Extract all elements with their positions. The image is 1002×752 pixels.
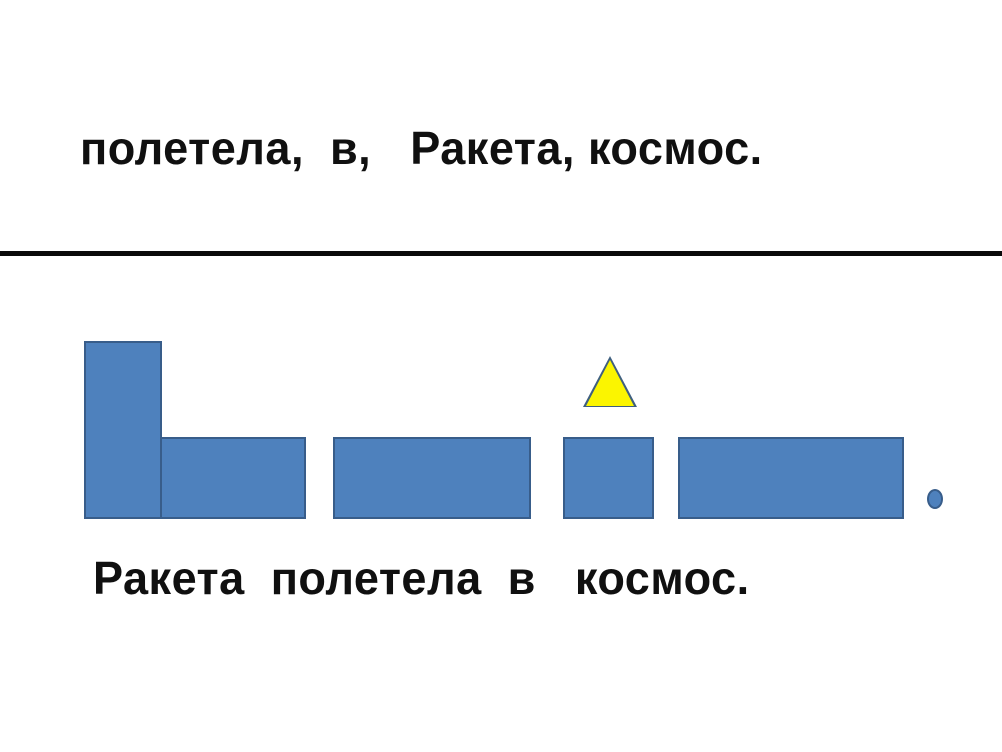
capital-marker-block: [84, 341, 162, 519]
sentence-scheme: [0, 330, 1002, 525]
scrambled-sentence: полетела, в, Ракета, космос.: [80, 125, 763, 171]
word-block-kosmos: [678, 437, 904, 519]
word-block-poletela: [333, 437, 531, 519]
period-dot-marker: [927, 489, 943, 509]
word-block-v: [563, 437, 654, 519]
word-block-raketa: [160, 437, 306, 519]
correct-sentence: Ракета полетела в космос.: [93, 555, 750, 601]
triangle-fill: [586, 360, 634, 406]
worksheet-page: полетела, в, Ракета, космос. Ракета поле…: [0, 0, 1002, 752]
horizontal-divider: [0, 251, 1002, 256]
